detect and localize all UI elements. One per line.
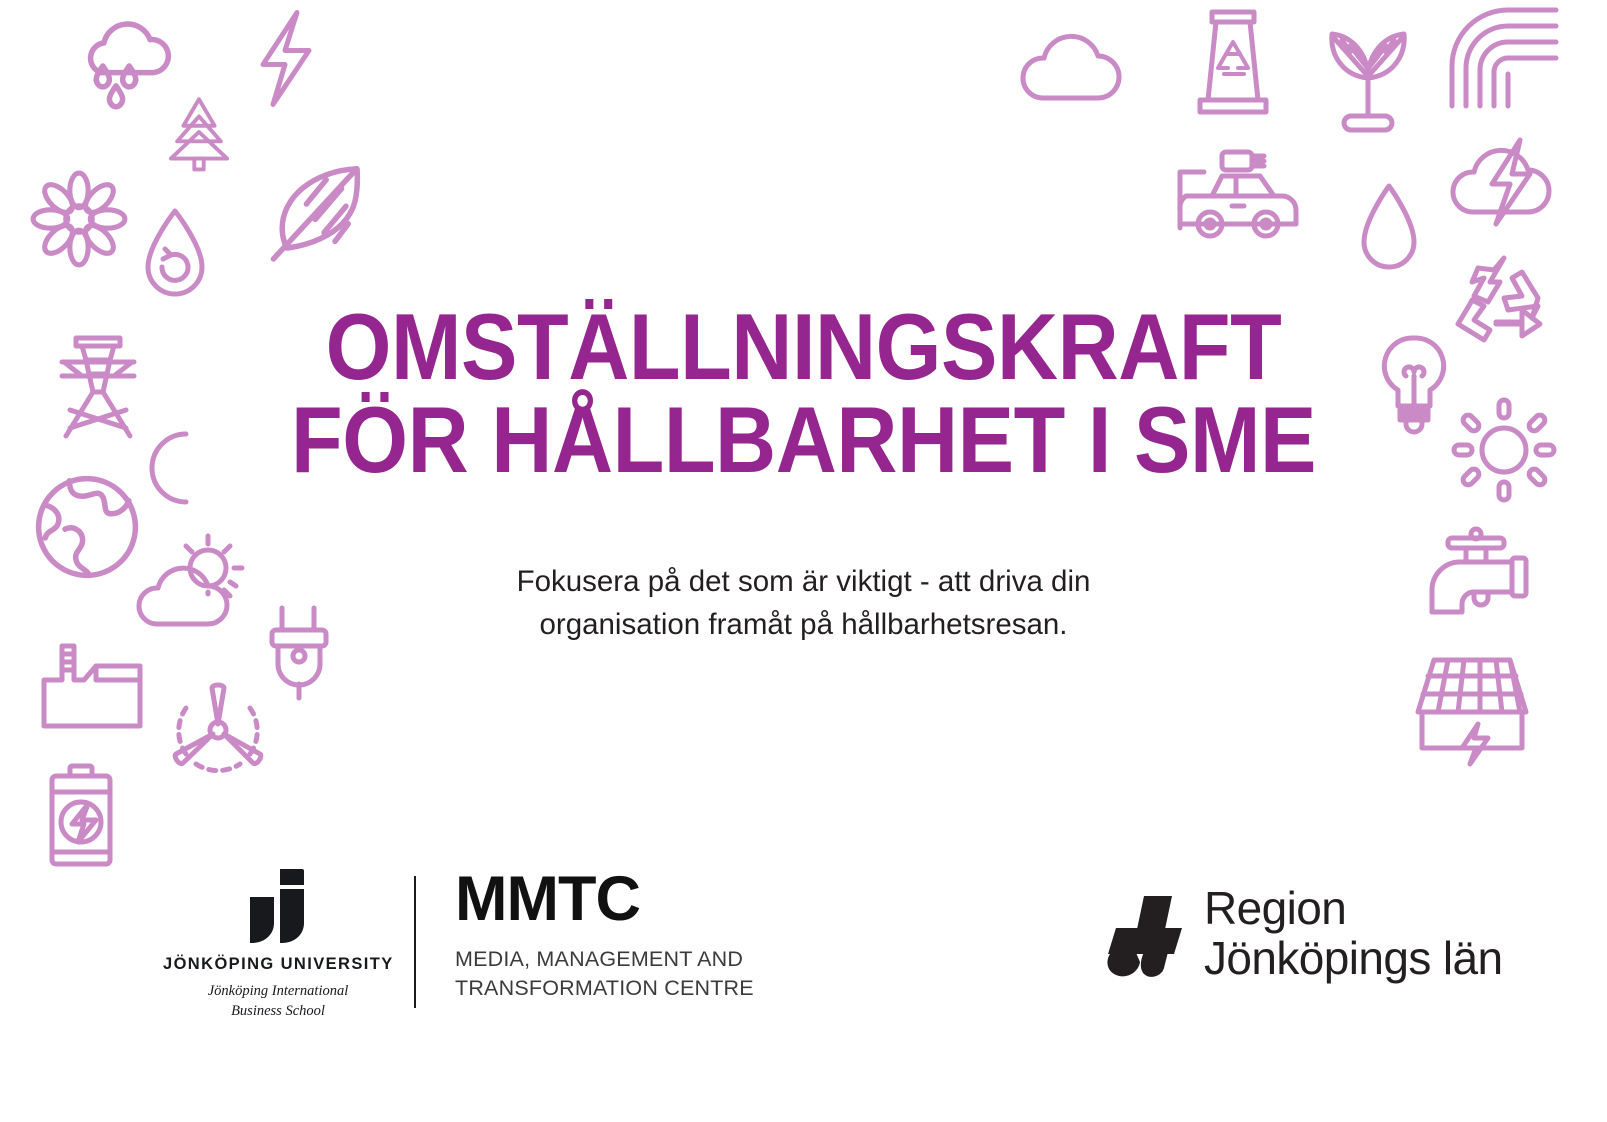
ju-subtitle-line-1: Jönköping International <box>163 982 393 1002</box>
rain-cloud-icon <box>66 22 188 132</box>
region-jonkoping-mark-icon <box>1092 886 1184 982</box>
recycle-tower-icon <box>1188 8 1278 120</box>
headline-line-2: FÖR HÅLLBARHET I SME <box>80 393 1526 486</box>
headline-line-1: OMSTÄLLNINGSKRAFT <box>80 300 1526 393</box>
region-line-1: Region <box>1204 884 1502 934</box>
solar-panel-icon <box>1404 652 1540 764</box>
ju-subtitle-line-2: Business School <box>163 1002 393 1022</box>
page-title: OMSTÄLLNINGSKRAFT FÖR HÅLLBARHET I SME <box>0 300 1607 486</box>
storm-cloud-icon <box>1448 136 1558 228</box>
mmtc-logo: MMTC MEDIA, MANAGEMENT AND TRANSFORMATIO… <box>455 868 754 1002</box>
lightning-bolt-icon <box>255 6 315 111</box>
cloud-icon <box>1018 28 1128 104</box>
subtitle-line-2: organisation framåt på hållbarhetsresan. <box>424 603 1184 646</box>
presentation-slide: OMSTÄLLNINGSKRAFT FÖR HÅLLBARHET I SME F… <box>0 0 1607 1122</box>
region-jonkopings-lan-logo: Region Jönköpings län <box>1092 884 1502 983</box>
headline-text: OMSTÄLLNINGSKRAFT FÖR HÅLLBARHET I SME <box>80 300 1526 486</box>
subtitle: Fokusera på det som är viktigt - att dri… <box>424 560 1184 647</box>
battery-icon <box>42 762 118 868</box>
subtitle-line-1: Fokusera på det som är viktigt - att dri… <box>424 560 1184 603</box>
jonkoping-university-logo: JÖNKÖPING UNIVERSITY Jönköping Internati… <box>163 862 393 1021</box>
factory-icon <box>34 640 144 732</box>
mmtc-subtitle-line-1: MEDIA, MANAGEMENT AND <box>455 945 754 974</box>
sprout-icon <box>1318 24 1418 134</box>
sun-cloud-icon <box>130 530 252 630</box>
logo-divider <box>414 876 416 1008</box>
ju-j-logo-icon <box>246 867 310 945</box>
ju-subtitle: Jönköping International Business School <box>163 982 393 1021</box>
rainbow-icon <box>1448 6 1558 108</box>
region-wordmark: Region Jönköpings län <box>1204 884 1502 983</box>
globe-icon <box>32 472 142 582</box>
mmtc-acronym: MMTC <box>455 868 754 931</box>
region-line-2: Jönköpings län <box>1204 934 1502 984</box>
water-tap-icon <box>1416 528 1536 620</box>
ju-name: JÖNKÖPING UNIVERSITY <box>163 955 393 974</box>
logo-bar: JÖNKÖPING UNIVERSITY Jönköping Internati… <box>0 862 1607 1037</box>
electric-car-icon <box>1170 140 1300 240</box>
power-plug-icon <box>264 602 334 702</box>
water-drop-recycle-icon <box>140 205 210 305</box>
leaf-icon <box>258 160 368 270</box>
flower-icon <box>28 168 130 270</box>
water-drop-icon <box>1358 182 1420 278</box>
wind-turbine-icon <box>166 682 270 772</box>
pine-tree-icon <box>160 82 238 182</box>
mmtc-subtitle: MEDIA, MANAGEMENT AND TRANSFORMATION CEN… <box>455 945 754 1002</box>
mmtc-subtitle-line-2: TRANSFORMATION CENTRE <box>455 974 754 1003</box>
